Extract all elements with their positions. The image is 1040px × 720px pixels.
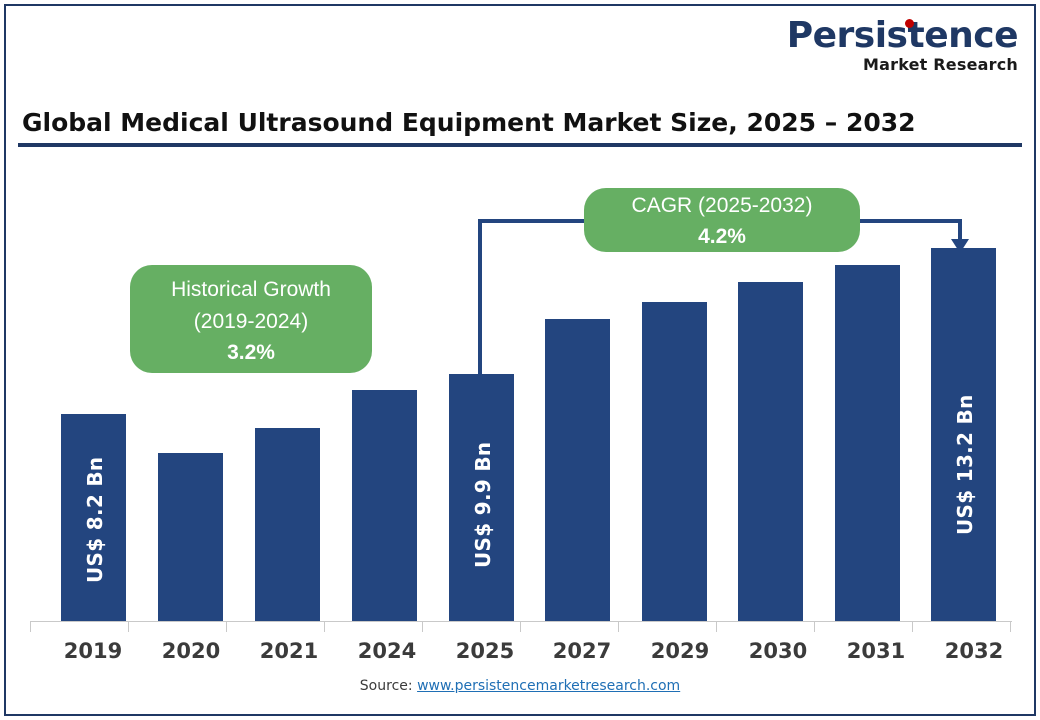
cagr-connector-riser xyxy=(478,219,482,376)
x-axis-label-2021: 2021 xyxy=(240,639,338,663)
x-axis-tick xyxy=(912,621,913,632)
x-axis-tick xyxy=(30,621,31,632)
historical-growth-line1: Historical Growth xyxy=(130,274,372,306)
cagr-connector-right-arm xyxy=(855,219,962,223)
cagr-connector-drop xyxy=(958,219,962,241)
source-label: Source: xyxy=(360,678,413,694)
x-axis-tick xyxy=(520,621,521,632)
x-axis-label-2025: 2025 xyxy=(436,639,534,663)
bar-value-label-2032: US$ 13.2 Bn xyxy=(953,394,977,535)
bar-2029 xyxy=(642,302,707,622)
x-axis-tick xyxy=(128,621,129,632)
bar-value-label-2019: US$ 8.2 Bn xyxy=(83,457,107,583)
x-axis-tick xyxy=(814,621,815,632)
historical-growth-callout: Historical Growth (2019-2024) 3.2% xyxy=(130,265,372,373)
bar-2020 xyxy=(158,453,223,622)
x-axis-label-2029: 2029 xyxy=(631,639,729,663)
x-axis-line xyxy=(30,621,1012,622)
cagr-callout: CAGR (2025-2032) 4.2% xyxy=(584,188,860,252)
bar-2027 xyxy=(545,319,610,622)
x-axis-tick xyxy=(226,621,227,632)
historical-growth-line2: (2019-2024) xyxy=(130,306,372,338)
bar-value-label-2025: US$ 9.9 Bn xyxy=(471,442,495,568)
x-axis-tick xyxy=(716,621,717,632)
chart-plot-area: US$ 8.2 Bn US$ 9.9 Bn US$ 13.2 Bn 2019 2… xyxy=(0,0,1040,720)
x-axis-label-2024: 2024 xyxy=(338,639,436,663)
bar-2024 xyxy=(352,390,417,622)
bar-2031 xyxy=(835,265,900,622)
chart-page: Persistence Market Research Global Medic… xyxy=(0,0,1040,720)
cagr-arrow-head-icon xyxy=(951,239,969,253)
cagr-value: 4.2% xyxy=(584,222,860,252)
x-axis-label-2032: 2032 xyxy=(925,639,1023,663)
x-axis-label-2027: 2027 xyxy=(533,639,631,663)
x-axis-label-2030: 2030 xyxy=(729,639,827,663)
x-axis-tick xyxy=(1010,621,1011,632)
source-footer: Source: www.persistencemarketresearch.co… xyxy=(0,678,1040,694)
historical-growth-value: 3.2% xyxy=(130,338,372,368)
x-axis-label-2031: 2031 xyxy=(827,639,925,663)
source-link[interactable]: www.persistencemarketresearch.com xyxy=(417,678,680,694)
bar-2030 xyxy=(738,282,803,622)
x-axis-tick xyxy=(422,621,423,632)
x-axis-label-2020: 2020 xyxy=(142,639,240,663)
x-axis-tick xyxy=(618,621,619,632)
cagr-line1: CAGR (2025-2032) xyxy=(584,190,860,222)
x-axis-tick xyxy=(324,621,325,632)
x-axis-label-2019: 2019 xyxy=(44,639,142,663)
bar-2021 xyxy=(255,428,320,622)
cagr-connector-left-arm xyxy=(478,219,590,223)
